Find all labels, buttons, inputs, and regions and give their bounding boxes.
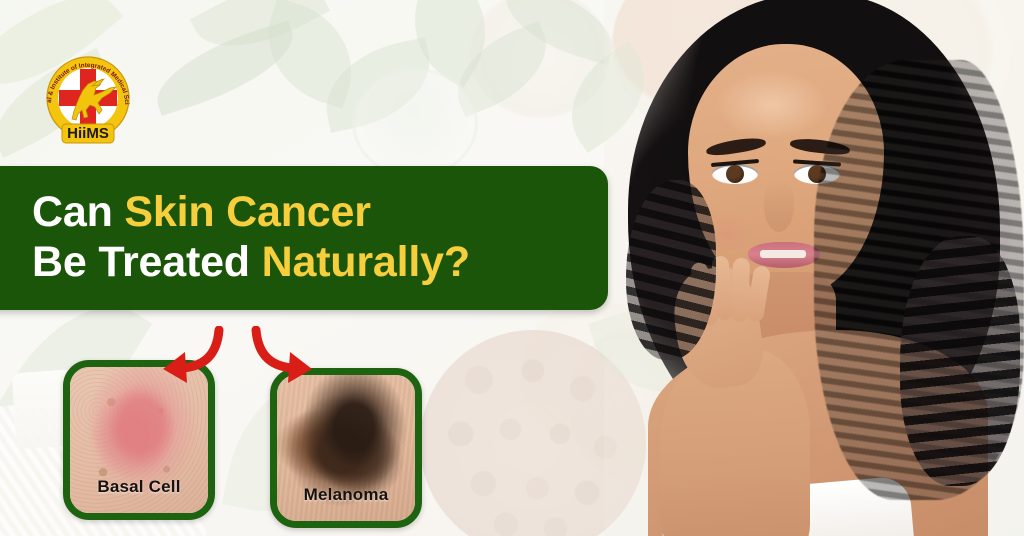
hiims-logo[interactable]: HiiMS Hospital & Institute of Integrated… [36,48,140,148]
nose [764,180,794,232]
red-curved-arrow-left-icon [155,326,225,388]
forehead-highlight [716,70,828,140]
red-curved-arrow-right-icon [248,326,320,388]
eye-left [712,164,758,184]
card-label: Basal Cell [70,477,208,497]
headline-plain-2: Be Treated [32,238,262,286]
headline-accent-2: Naturally? [262,238,470,286]
teeth [760,250,806,258]
headline-banner: Can Skin Cancer Be Treated Naturally? [0,166,608,310]
woman-portrait [604,0,1024,536]
hair-curl [900,236,1020,486]
hair-curl [626,180,716,360]
condition-card-melanoma[interactable]: Melanoma [270,368,422,528]
logo-acronym: HiiMS [67,125,109,142]
headline-line-2: Be Treated Naturally? [32,238,608,288]
promo-banner: HiiMS Hospital & Institute of Integrated… [0,0,1024,536]
headline-line-1: Can Skin Cancer [32,188,608,238]
headline-plain-1: Can [32,188,124,236]
iris-left [726,165,744,183]
card-label: Melanoma [277,485,415,505]
headline-accent-1: Skin Cancer [124,188,370,236]
